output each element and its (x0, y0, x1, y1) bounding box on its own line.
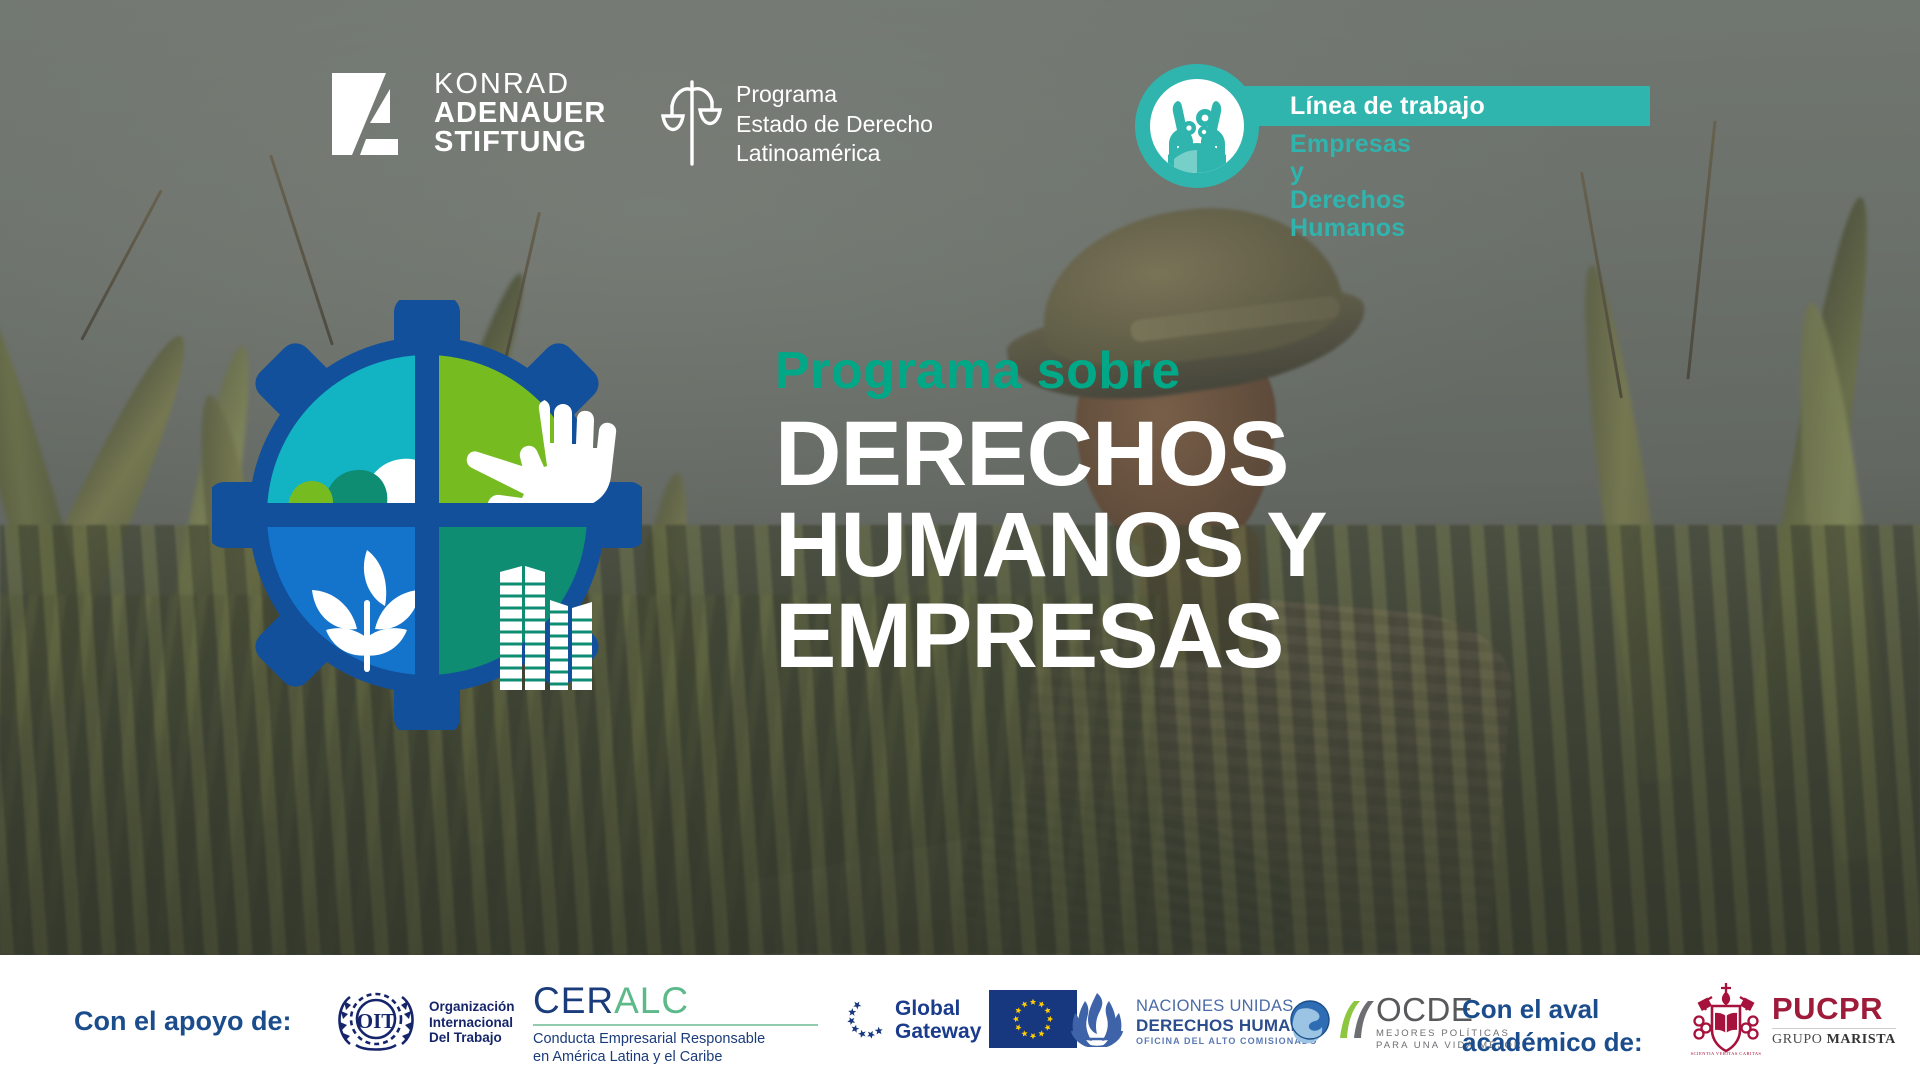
oit-wordmark: Organización Internacional Del Trabajo (429, 999, 515, 1047)
ilo-oit-logo: OIT Organización Internacional Del Traba… (330, 987, 515, 1058)
gg-line-2: Gateway (895, 1021, 981, 1043)
promo-banner: KONRAD ADENAUER STIFTUNG (0, 0, 1920, 1080)
kas-line-2: ADENAUER (434, 99, 606, 128)
ceralc-wordmark: CERALC (533, 980, 818, 1022)
global-gateway-wordmark: Global Gateway (895, 998, 981, 1043)
pucpr-logo: SCIENTIA VERITAS CARITAS PUCPR GRUPO MAR… (1690, 979, 1896, 1062)
headline-pretitle: Programa sobre (775, 345, 1327, 397)
endorsement-label: Con el aval académico de: (1462, 993, 1643, 1060)
ped-line-3: Latinoamérica (736, 139, 933, 168)
support-label: Con el apoyo de: (74, 1005, 292, 1037)
pucpr-sub-part-1: GRUPO (1772, 1032, 1827, 1047)
kas-line-3: STIFTUNG (434, 128, 606, 157)
programa-estado-de-derecho-logo: Programa Estado de Derecho Latinoamérica (660, 76, 933, 173)
headline-line-1: DERECHOS (775, 409, 1327, 500)
headline-line-3: EMPRESAS (775, 591, 1327, 682)
endorsement-label-line-2: académico de: (1462, 1026, 1643, 1059)
oit-emblem-icon: OIT (330, 987, 422, 1058)
european-union-flag (989, 990, 1077, 1048)
work-line-subtitle-2: Derechos Humanos (1290, 186, 1411, 242)
pucpr-sub-part-2: MARISTA (1827, 1032, 1896, 1047)
ped-line-2: Estado de Derecho (736, 110, 933, 139)
headline-block: Programa sobre DERECHOS HUMANOS Y EMPRES… (775, 345, 1327, 682)
footer-partner-bar: Con el apoyo de: (0, 955, 1920, 1080)
work-line-bar: Línea de trabajo (1230, 86, 1650, 126)
oit-line-1: Organización (429, 999, 515, 1015)
ped-line-1: Programa (736, 80, 933, 109)
pucpr-crest-icon: SCIENTIA VERITAS CARITAS (1690, 979, 1762, 1062)
kas-wordmark: KONRAD ADENAUER STIFTUNG (434, 70, 606, 157)
ped-wordmark: Programa Estado de Derecho Latinoamérica (736, 80, 933, 168)
kas-line-1: KONRAD (434, 70, 606, 99)
work-line-circle (1135, 64, 1259, 188)
ceralc-brand-part-1: CER (533, 980, 614, 1021)
ocde-arrows-icon (1334, 996, 1374, 1049)
work-line-subtitle: Empresas y Derechos Humanos (1290, 130, 1411, 242)
work-line-subtitle-1: Empresas y (1290, 130, 1411, 186)
oit-line-3: Del Trabajo (429, 1030, 515, 1046)
ceralc-tagline-1: Conducta Empresarial Responsable (533, 1030, 818, 1048)
ceralc-brand-part-2: ALC (614, 980, 689, 1021)
hands-gears-globe-icon (1150, 79, 1244, 173)
ceralc-logo: CERALC Conducta Empresarial Responsable … (533, 980, 818, 1066)
ocde-globe-icon (1288, 996, 1336, 1049)
pucpr-subtitle: GRUPO MARISTA (1772, 1032, 1896, 1048)
header-logo-bar: KONRAD ADENAUER STIFTUNG (0, 0, 1920, 200)
svg-text:OIT: OIT (357, 1009, 396, 1033)
gateway-stars-icon (845, 995, 891, 1046)
oit-line-2: Internacional (429, 1015, 515, 1031)
global-gateway-logo: Global Gateway (845, 995, 981, 1046)
svg-text:SCIENTIA VERITAS CARITAS: SCIENTIA VERITAS CARITAS (1691, 1051, 1762, 1056)
ceralc-divider (533, 1024, 818, 1026)
scales-of-justice-icon (660, 76, 722, 173)
human-rights-business-gear-emblem (212, 300, 642, 730)
pucpr-divider (1772, 1028, 1896, 1030)
pucpr-wordmark: PUCPR GRUPO MARISTA (1772, 993, 1896, 1049)
ceralc-tagline-2: en América Latina y el Caribe (533, 1048, 818, 1066)
kas-logo-mark-icon (330, 71, 416, 157)
gg-line-1: Global (895, 998, 981, 1020)
un-human-rights-flame-icon (1066, 991, 1128, 1052)
konrad-adenauer-stiftung-logo: KONRAD ADENAUER STIFTUNG (330, 70, 606, 157)
headline-line-2: HUMANOS Y (775, 500, 1327, 591)
pucpr-acronym: PUCPR (1772, 993, 1896, 1024)
endorsement-label-line-1: Con el aval (1462, 993, 1643, 1026)
work-line-title: Línea de trabajo (1230, 86, 1650, 126)
headline-title: DERECHOS HUMANOS Y EMPRESAS (775, 409, 1327, 682)
